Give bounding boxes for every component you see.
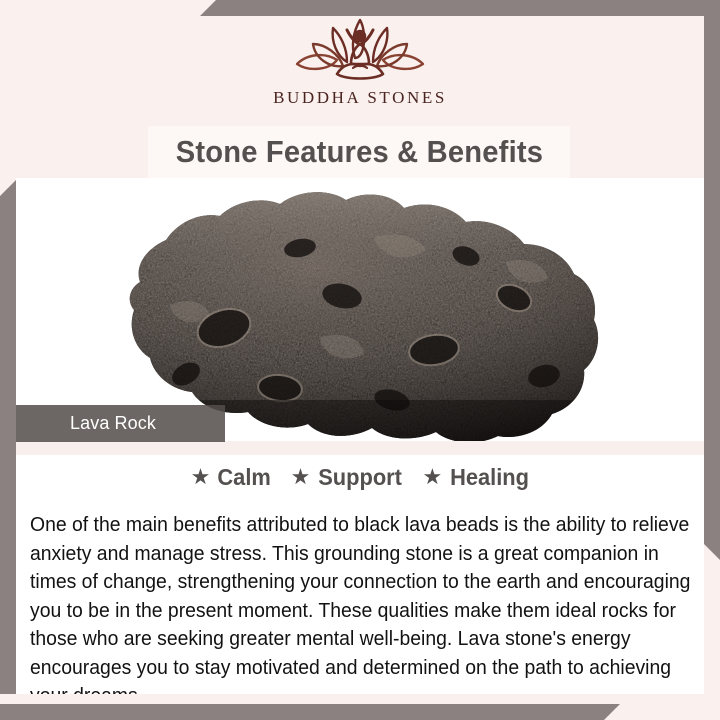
lotus-meditation-icon xyxy=(285,14,435,86)
star-icon: ★ xyxy=(291,466,311,488)
benefit-item-healing: ★ Healing xyxy=(423,464,532,491)
star-icon: ★ xyxy=(191,466,211,488)
section-separator xyxy=(16,441,704,455)
title-banner: Stone Features & Benefits xyxy=(148,126,570,178)
frame-band-left xyxy=(0,180,16,705)
brand-header: BUDDHA STONES xyxy=(0,0,720,124)
brand-name: BUDDHA STONES xyxy=(273,88,447,108)
benefit-label: Calm xyxy=(218,464,271,491)
benefits-row: ★ Calm ★ Support ★ Healing xyxy=(30,464,692,491)
poster-canvas: BUDDHA STONES Stone Features & Benefits xyxy=(0,0,720,720)
frame-band-bottom-overlay xyxy=(0,704,620,720)
photo-caption-bar: Lava Rock xyxy=(16,405,225,442)
photo-caption-label: Lava Rock xyxy=(16,413,156,434)
benefit-item-support: ★ Support xyxy=(291,464,405,491)
lava-rock-photo xyxy=(74,178,646,442)
stone-photo-area xyxy=(16,178,704,442)
page-title: Stone Features & Benefits xyxy=(175,134,542,170)
description-paragraph: One of the main benefits attributed to b… xyxy=(30,511,691,711)
benefits-content: ★ Calm ★ Support ★ Healing One of the ma… xyxy=(16,455,704,694)
star-icon: ★ xyxy=(423,466,443,488)
benefit-label: Healing xyxy=(450,464,529,491)
benefit-label: Support xyxy=(319,464,403,491)
benefit-item-calm: ★ Calm xyxy=(191,464,273,491)
